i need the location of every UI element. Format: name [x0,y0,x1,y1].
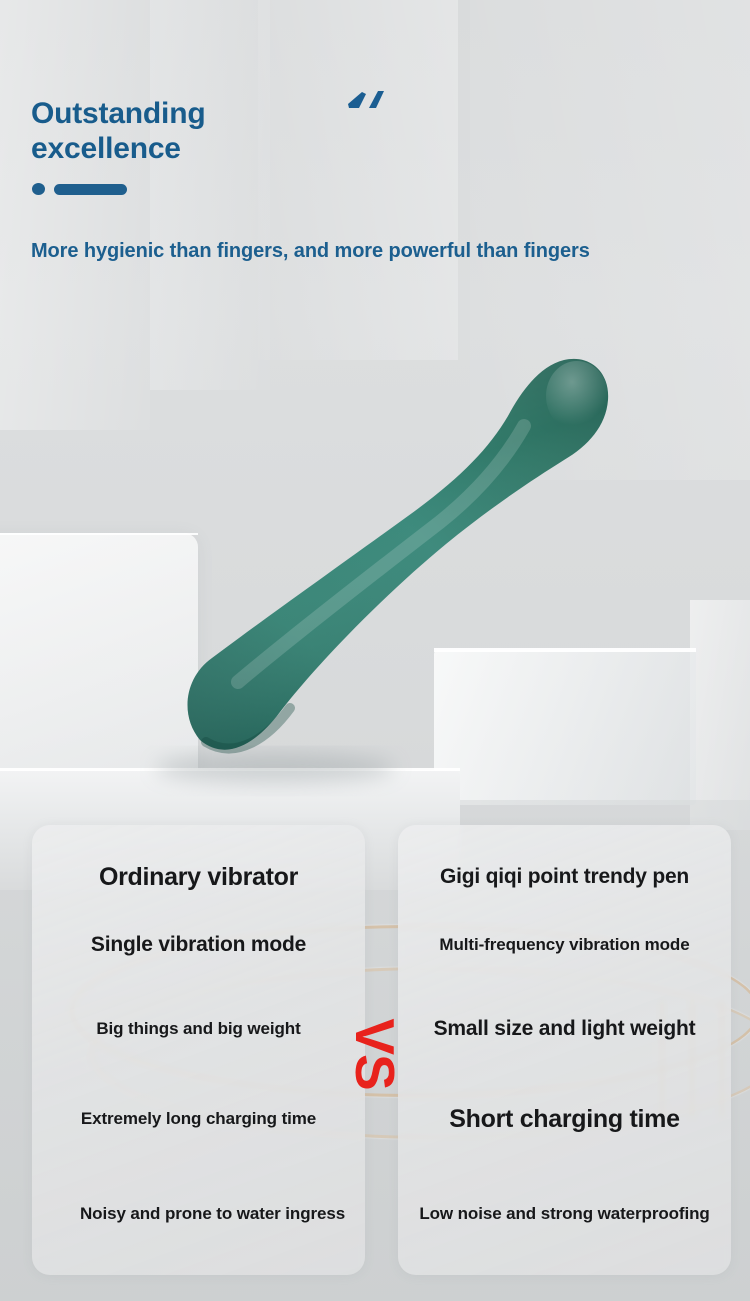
feature-row-left-1: Single vibration mode [32,919,365,971]
accent-bar-icon [54,184,127,195]
panel-heading-right: Gigi qiqi point trendy pen [398,849,731,905]
background-block-right [690,600,750,830]
accent-divider [32,183,127,195]
feature-row-right-2: Small size and light weight [398,1003,731,1055]
accent-dot-icon [32,183,45,195]
feature-row-right-4: Low noise and strong waterproofing [398,1183,731,1245]
feature-row-right-3: Short charging time [398,1093,731,1145]
page-subtitle: More hygienic than fingers, and more pow… [31,240,590,263]
vs-badge: VS [329,1022,421,1086]
product-marketing-page: Outstanding excellence More hygienic tha… [0,0,750,1301]
comparison-panel-product: Gigi qiqi point trendy pen Multi-frequen… [398,825,731,1275]
product-shadow [155,753,395,783]
wall-panel-1 [0,0,150,430]
feature-row-left-3: Extremely long charging time [32,1093,365,1145]
page-title: Outstanding excellence [31,96,205,166]
panel-heading-left: Ordinary vibrator [32,849,365,905]
product-image [140,330,640,800]
wall-panel-3 [258,0,458,360]
comparison-panel-ordinary: Ordinary vibrator Single vibration mode … [32,825,365,1275]
feature-row-left-2: Big things and big weight [32,1003,365,1055]
feature-row-right-1: Multi-frequency vibration mode [398,919,731,971]
product-tip-highlight [546,361,608,431]
feature-row-left-4: Noisy and prone to water ingress [32,1183,365,1245]
quote-mark-icon [346,88,390,114]
